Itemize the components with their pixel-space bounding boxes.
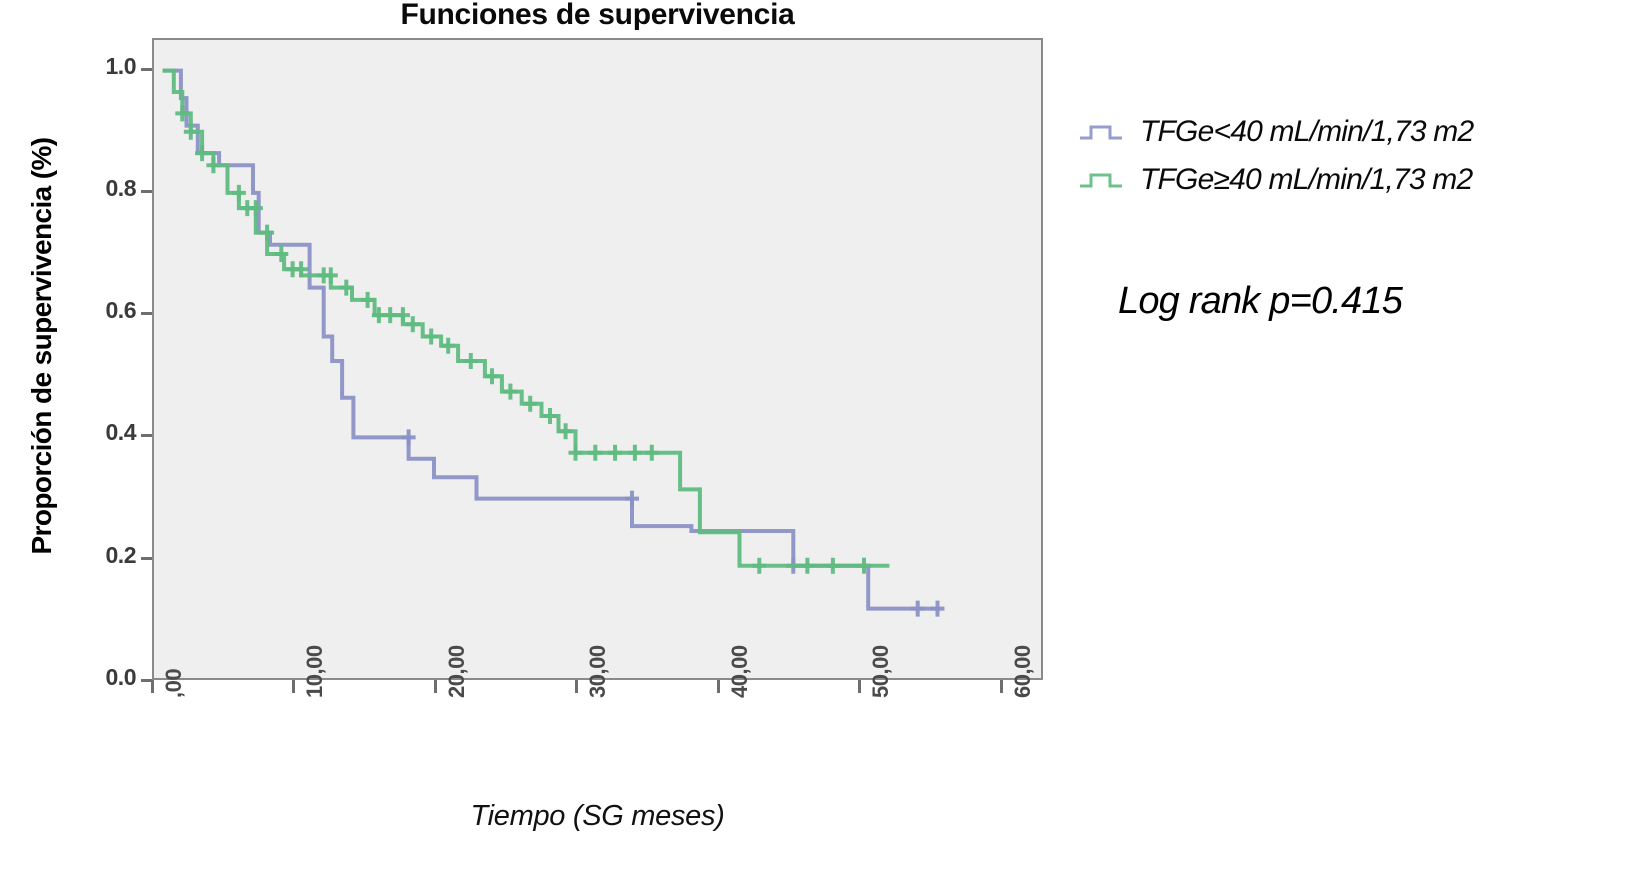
censor-mark: [608, 445, 622, 461]
y-tick-label: 0.2: [66, 542, 136, 569]
y-tick-mark: [141, 434, 152, 437]
x-tick-mark: [1000, 680, 1003, 693]
censor-mark: [645, 445, 659, 461]
censor-mark: [523, 396, 537, 412]
x-tick-label: 40,00: [727, 645, 753, 698]
x-tick-mark: [717, 680, 720, 693]
censor-mark: [274, 246, 288, 262]
survival-curves: [154, 40, 1045, 682]
censor-mark: [625, 491, 639, 507]
censor-mark: [752, 558, 766, 574]
legend-swatch-step-icon: [1078, 167, 1124, 193]
page-title: Funciones de supervivencia: [152, 0, 1043, 32]
x-tick-label: 20,00: [444, 645, 470, 698]
y-tick-mark: [141, 190, 152, 193]
logrank-annotation: Log rank p=0.415: [1118, 280, 1402, 323]
x-tick-label: ,00: [161, 669, 187, 698]
censor-mark: [800, 558, 814, 574]
censor-mark: [559, 423, 573, 439]
x-tick-mark: [858, 680, 861, 693]
y-axis-ticks: 0.00.20.40.60.81.0: [70, 38, 152, 680]
x-tick-label: 50,00: [868, 645, 894, 698]
y-tick-mark: [141, 557, 152, 560]
censor-mark: [931, 601, 945, 617]
x-tick-mark: [151, 680, 154, 693]
censor-mark: [232, 185, 246, 201]
legend-item-tfge-lt40[interactable]: TFGe<40 mL/min/1,73 m2: [1078, 108, 1638, 156]
censor-mark: [485, 368, 499, 384]
y-tick-mark: [141, 312, 152, 315]
censor-mark: [361, 292, 375, 308]
censor-mark: [324, 267, 338, 283]
censor-mark: [424, 329, 438, 345]
censor-mark: [464, 353, 478, 369]
x-tick-label: 60,00: [1010, 645, 1036, 698]
y-tick-mark: [141, 68, 152, 71]
censor-mark: [826, 558, 840, 574]
censor-mark: [911, 601, 925, 617]
curve-line: [163, 71, 941, 609]
censor-mark: [406, 316, 420, 332]
x-tick-label: 10,00: [302, 645, 328, 698]
censor-mark: [628, 445, 642, 461]
y-tick-label: 1.0: [66, 53, 136, 80]
x-tick-mark: [575, 680, 578, 693]
censor-mark: [569, 445, 583, 461]
legend-label: TFGe<40 mL/min/1,73 m2: [1140, 115, 1473, 149]
y-tick-label: 0.0: [66, 664, 136, 691]
x-axis-ticks: ,0010,0020,0030,0040,0050,0060,00: [152, 680, 1043, 800]
survival-curve-blue: [163, 71, 945, 617]
legend-item-tfge-ge40[interactable]: TFGe≥40 mL/min/1,73 m2: [1078, 156, 1638, 204]
censor-mark: [402, 429, 416, 445]
censor-mark: [396, 307, 410, 323]
x-axis-title: Tiempo (SG meses): [152, 800, 1043, 833]
x-tick-label: 30,00: [585, 645, 611, 698]
y-tick-label: 0.6: [66, 297, 136, 324]
y-tick-label: 0.4: [66, 419, 136, 446]
x-tick-mark: [292, 680, 295, 693]
censor-mark: [503, 384, 517, 400]
curve-line: [163, 71, 890, 566]
legend-swatch-step-icon: [1078, 119, 1124, 145]
chart-figure: Funciones de supervivencia Proporción de…: [0, 0, 1641, 889]
legend: TFGe<40 mL/min/1,73 m2TFGe≥40 mL/min/1,7…: [1078, 108, 1638, 204]
censor-mark: [383, 307, 397, 323]
censor-mark: [543, 408, 557, 424]
y-axis-title: Proporción de supervivencia (%): [26, 26, 58, 666]
y-tick-label: 0.8: [66, 175, 136, 202]
plot-area: [152, 38, 1043, 680]
x-tick-mark: [434, 680, 437, 693]
censor-mark: [588, 445, 602, 461]
legend-label: TFGe≥40 mL/min/1,73 m2: [1140, 163, 1472, 197]
censor-mark: [441, 338, 455, 354]
